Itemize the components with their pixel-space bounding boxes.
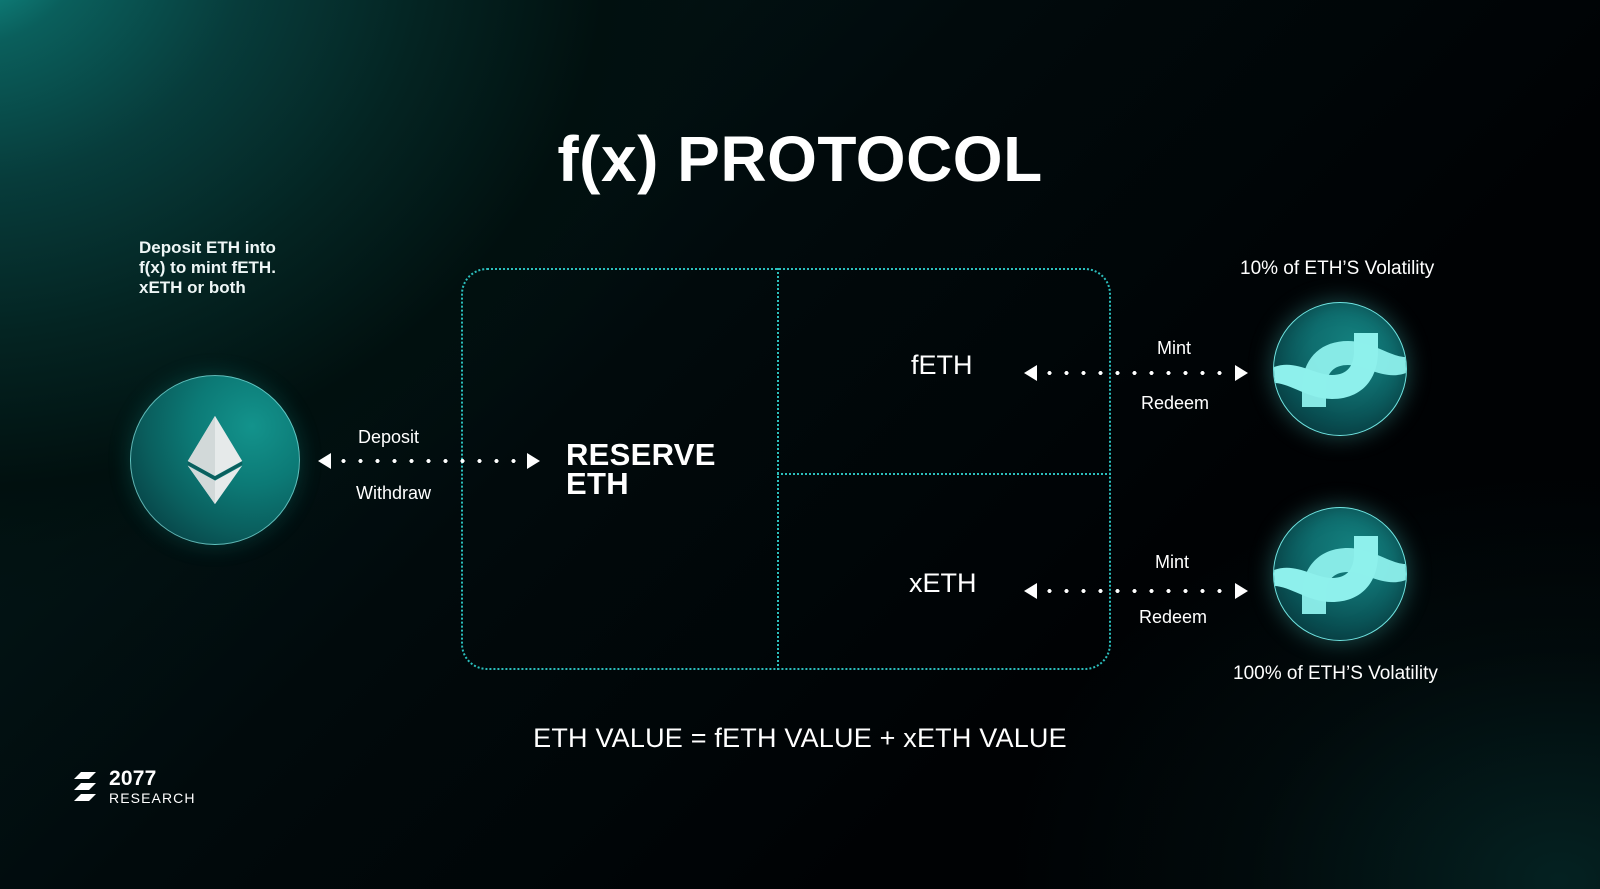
fx-protocol-token-icon	[1274, 508, 1406, 640]
reserve-eth-label: RESERVE ETH	[566, 440, 716, 498]
arrow-right-head-icon	[527, 453, 540, 469]
brand-text: 2077 RESEARCH	[109, 768, 196, 805]
ethereum-diamond-icon	[183, 414, 247, 506]
arrow-left-head-icon	[1024, 583, 1037, 599]
reserve-horizontal-divider	[777, 473, 1111, 475]
deposit-instructions-caption: Deposit ETH into f(x) to mint fETH. xETH…	[139, 238, 276, 298]
xeth-redeem-label: Redeem	[1139, 607, 1207, 628]
reserve-vertical-divider	[777, 268, 779, 670]
arrow-left-head-icon	[318, 453, 331, 469]
feth-mint-redeem-arrow	[1024, 365, 1248, 381]
xeth-mint-label: Mint	[1155, 552, 1189, 573]
arrow-left-head-icon	[1024, 365, 1037, 381]
2077-slashes-icon	[72, 770, 98, 804]
arrow-dots	[1041, 371, 1231, 375]
feth-token-circle	[1273, 302, 1407, 436]
value-formula: ETH VALUE = fETH VALUE + xETH VALUE	[0, 723, 1600, 754]
arrow-right-head-icon	[1235, 365, 1248, 381]
xeth-label: xETH	[909, 568, 977, 599]
reserve-container-box	[461, 268, 1111, 670]
fx-protocol-token-icon	[1274, 303, 1406, 435]
withdraw-arrow-label: Withdraw	[356, 483, 431, 504]
brand-logo: 2077 RESEARCH	[72, 768, 196, 805]
feth-redeem-label: Redeem	[1141, 393, 1209, 414]
feth-label: fETH	[911, 350, 973, 381]
deposit-withdraw-arrow	[318, 453, 540, 469]
brand-name: 2077	[109, 768, 196, 789]
xeth-volatility-label: 100% of ETH’S Volatility	[1233, 663, 1438, 685]
diagram-canvas: f(x) PROTOCOL Deposit ETH into f(x) to m…	[0, 0, 1600, 889]
feth-volatility-label: 10% of ETH’S Volatility	[1240, 258, 1434, 280]
deposit-arrow-label: Deposit	[358, 427, 419, 448]
xeth-mint-redeem-arrow	[1024, 583, 1248, 599]
arrow-right-head-icon	[1235, 583, 1248, 599]
eth-token-circle	[130, 375, 300, 545]
page-title: f(x) PROTOCOL	[0, 122, 1600, 196]
arrow-dots	[335, 459, 523, 463]
feth-mint-label: Mint	[1157, 338, 1191, 359]
arrow-dots	[1041, 589, 1231, 593]
brand-subtitle: RESEARCH	[109, 791, 196, 805]
xeth-token-circle	[1273, 507, 1407, 641]
